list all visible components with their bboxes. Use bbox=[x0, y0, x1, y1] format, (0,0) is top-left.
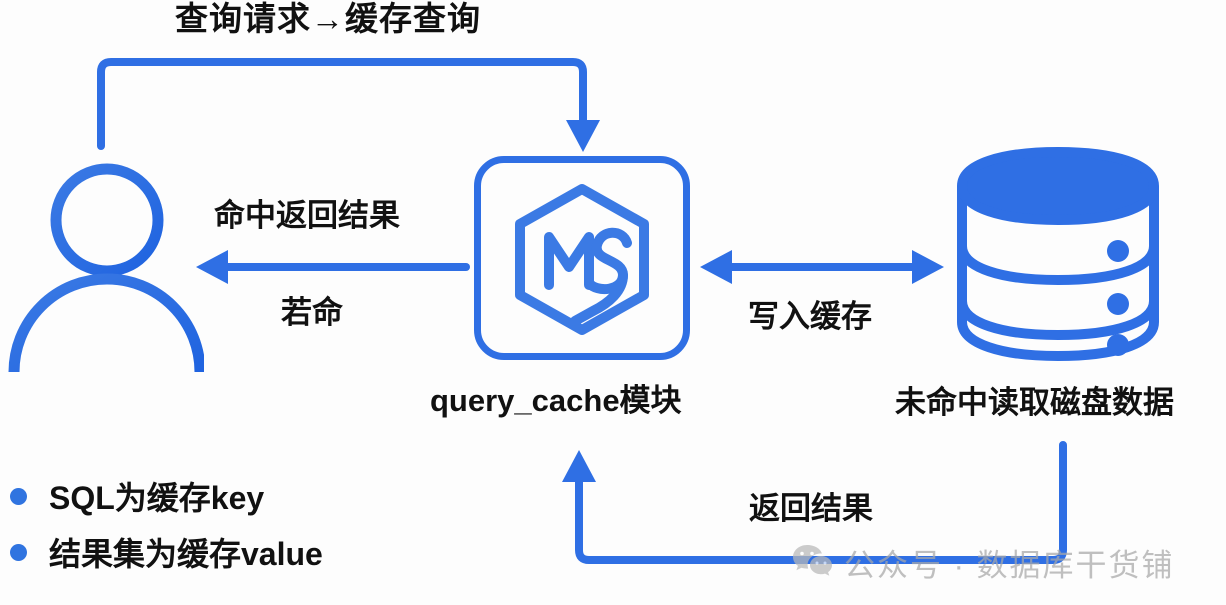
cache-node-caption: query_cache模块 bbox=[430, 385, 682, 416]
list-item: SQL为缓存key bbox=[10, 468, 323, 524]
bullet-list: SQL为缓存key 结果集为缓存value bbox=[10, 468, 323, 580]
arrow-write-cache bbox=[700, 250, 944, 284]
bullet-label: 结果集为缓存value bbox=[49, 529, 323, 575]
edge-label-return-result: 返回结果 bbox=[749, 493, 873, 524]
arrow-hit-return bbox=[196, 250, 466, 284]
bullet-dot-icon bbox=[10, 488, 27, 505]
user-icon bbox=[8, 160, 204, 372]
edge-label-query-request: 查询请求→缓存查询 bbox=[175, 2, 481, 35]
watermark-text: 公众号 · 数据库干货铺 bbox=[844, 540, 1175, 585]
diagram-canvas: 查询请求→缓存查询 命中返回结果 若命 query_cache模块 写入缓存 未… bbox=[0, 0, 1226, 605]
bullet-label: SQL为缓存key bbox=[49, 473, 264, 519]
edge-label-write-cache: 写入缓存 bbox=[748, 301, 872, 332]
edge-label-hit-return: 命中返回结果 bbox=[214, 200, 400, 231]
arrow-query-request bbox=[101, 62, 600, 152]
edge-label-if-hit: 若命 bbox=[281, 297, 343, 328]
list-item: 结果集为缓存value bbox=[10, 524, 323, 580]
database-node-caption: 未命中读取磁盘数据 bbox=[895, 387, 1174, 418]
watermark: 公众号 · 数据库干货铺 bbox=[792, 540, 1175, 585]
wechat-icon bbox=[792, 543, 832, 582]
bullet-dot-icon bbox=[10, 544, 27, 561]
database-cylinder-icon bbox=[950, 146, 1166, 362]
cache-module-box bbox=[474, 156, 690, 360]
ms-cube-logo-icon bbox=[497, 175, 667, 345]
